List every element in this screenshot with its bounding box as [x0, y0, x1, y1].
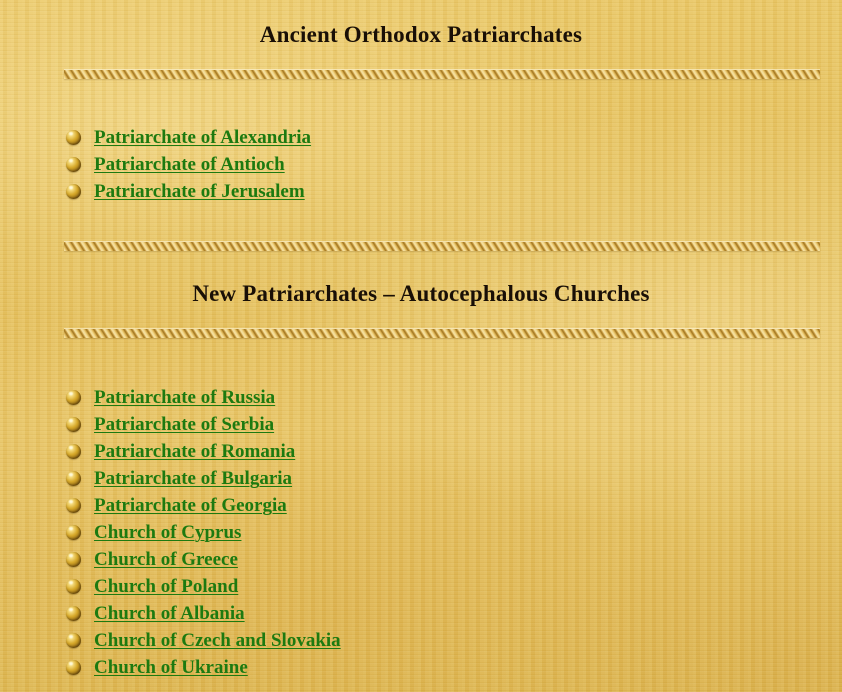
list-item: Patriarchate of Georgia	[0, 492, 341, 519]
gold-sphere-bullet-icon	[66, 157, 81, 172]
link-patriarchate-of-jerusalem[interactable]: Patriarchate of Jerusalem	[94, 181, 305, 202]
page-root: Ancient Orthodox Patriarchates Patriarch…	[0, 0, 842, 692]
new-patriarchates-list: Patriarchate of Russia Patriarchate of S…	[0, 384, 341, 681]
list-item: Church of Albania	[0, 600, 341, 627]
list-item: Church of Ukraine	[0, 654, 341, 681]
link-church-of-czech-and-slovakia[interactable]: Church of Czech and Slovakia	[94, 630, 341, 651]
link-church-of-albania[interactable]: Church of Albania	[94, 603, 245, 624]
gold-sphere-bullet-icon	[66, 471, 81, 486]
decorative-divider-lower	[64, 329, 820, 338]
gold-sphere-bullet-icon	[66, 579, 81, 594]
gold-sphere-bullet-icon	[66, 552, 81, 567]
list-item: Patriarchate of Jerusalem	[0, 178, 311, 205]
list-item: Patriarchate of Romania	[0, 438, 341, 465]
gold-sphere-bullet-icon	[66, 606, 81, 621]
list-item: Church of Czech and Slovakia	[0, 627, 341, 654]
decorative-divider-middle	[64, 242, 820, 251]
ancient-patriarchates-list: Patriarchate of Alexandria Patriarchate …	[0, 124, 311, 205]
gold-sphere-bullet-icon	[66, 633, 81, 648]
list-item: Patriarchate of Russia	[0, 384, 341, 411]
list-item: Patriarchate of Alexandria	[0, 124, 311, 151]
list-item: Patriarchate of Bulgaria	[0, 465, 341, 492]
list-item: Patriarchate of Antioch	[0, 151, 311, 178]
gold-sphere-bullet-icon	[66, 525, 81, 540]
gold-sphere-bullet-icon	[66, 498, 81, 513]
page-title-new-patriarchates: New Patriarchates – Autocephalous Church…	[0, 281, 842, 307]
link-patriarchate-of-bulgaria[interactable]: Patriarchate of Bulgaria	[94, 468, 292, 489]
gold-sphere-bullet-icon	[66, 184, 81, 199]
gold-sphere-bullet-icon	[66, 660, 81, 675]
link-patriarchate-of-antioch[interactable]: Patriarchate of Antioch	[94, 154, 285, 175]
link-patriarchate-of-alexandria[interactable]: Patriarchate of Alexandria	[94, 127, 311, 148]
link-church-of-cyprus[interactable]: Church of Cyprus	[94, 522, 241, 543]
link-church-of-ukraine[interactable]: Church of Ukraine	[94, 657, 248, 678]
gold-sphere-bullet-icon	[66, 130, 81, 145]
page-title-ancient-patriarchates: Ancient Orthodox Patriarchates	[0, 22, 842, 48]
gold-sphere-bullet-icon	[66, 444, 81, 459]
list-item: Patriarchate of Serbia	[0, 411, 341, 438]
gold-sphere-bullet-icon	[66, 417, 81, 432]
list-item: Church of Greece	[0, 546, 341, 573]
link-patriarchate-of-russia[interactable]: Patriarchate of Russia	[94, 387, 275, 408]
link-church-of-greece[interactable]: Church of Greece	[94, 549, 238, 570]
link-patriarchate-of-georgia[interactable]: Patriarchate of Georgia	[94, 495, 287, 516]
link-patriarchate-of-romania[interactable]: Patriarchate of Romania	[94, 441, 295, 462]
list-item: Church of Cyprus	[0, 519, 341, 546]
list-item: Church of Poland	[0, 573, 341, 600]
link-patriarchate-of-serbia[interactable]: Patriarchate of Serbia	[94, 414, 274, 435]
decorative-divider-top	[64, 70, 820, 79]
gold-sphere-bullet-icon	[66, 390, 81, 405]
link-church-of-poland[interactable]: Church of Poland	[94, 576, 238, 597]
